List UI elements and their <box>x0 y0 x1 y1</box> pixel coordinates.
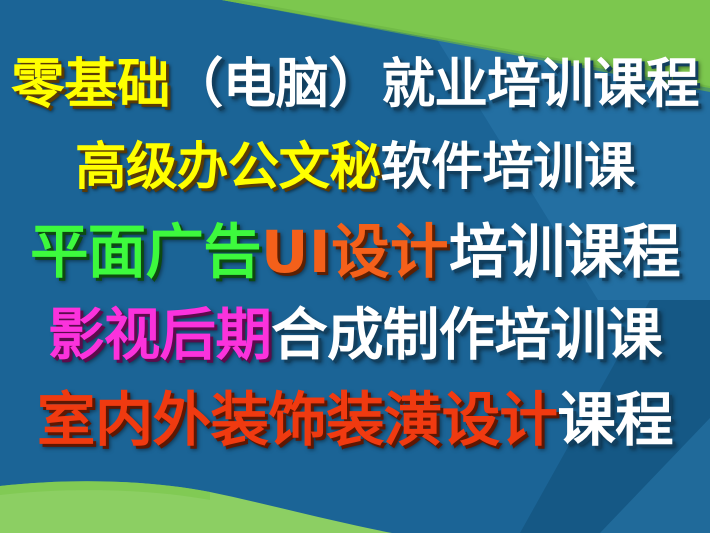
headline-line-5: 室内外装饰装潢设计 课程 <box>0 378 710 462</box>
headline-5-segment-2: 课程 <box>557 391 673 449</box>
headline-4-segment-2: 合成制作培训课 <box>271 308 662 364</box>
headline-line-1: 零基础 （电脑）就业培训课程 <box>0 42 710 126</box>
headline-line-4: 影视后期 合成制作培训课 <box>0 294 710 378</box>
headline-5-segment-1: 室内外装饰装潢设计 <box>37 391 557 449</box>
headline-4-segment-1: 影视后期 <box>48 308 271 364</box>
headline-line-2: 高级办公文秘 软件培训课 <box>0 126 710 210</box>
headline-1-segment-1: 零基础 <box>11 57 170 110</box>
headline-3-segment-3: 培训课程 <box>449 223 680 281</box>
headline-stack: 零基础 （电脑）就业培训课程 高级办公文秘 软件培训课 平面广告 UI设计 培训… <box>0 0 710 533</box>
promo-poster: 零基础 （电脑）就业培训课程 高级办公文秘 软件培训课 平面广告 UI设计 培训… <box>0 0 710 533</box>
headline-3-segment-2: UI设计 <box>261 223 449 281</box>
headline-line-3: 平面广告 UI设计 培训课程 <box>0 210 710 294</box>
headline-2-segment-2: 软件培训课 <box>380 142 634 193</box>
headline-3-segment-1: 平面广告 <box>30 223 261 281</box>
headline-1-segment-2: （电脑）就业培训课程 <box>170 57 699 110</box>
headline-2-segment-1: 高级办公文秘 <box>75 142 380 193</box>
